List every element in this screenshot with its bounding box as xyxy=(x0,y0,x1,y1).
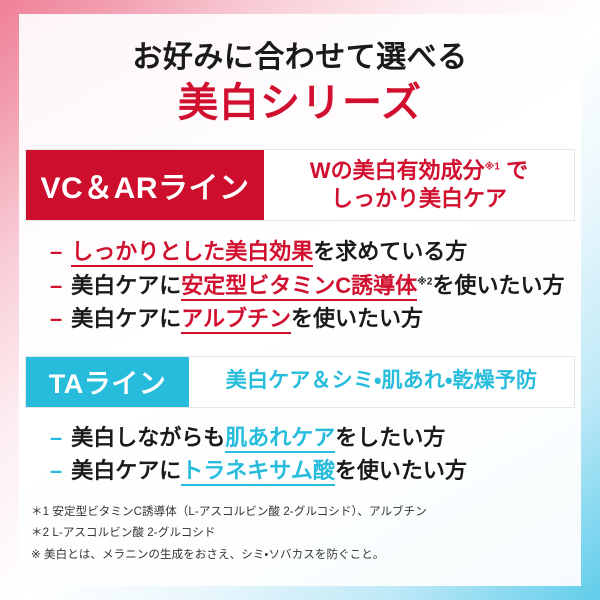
ta-bullet-list: – 美白しながらも肌あれケアをしたい方 – 美白ケアにトラネキサム酸を使いたい方 xyxy=(22,421,578,488)
badge-vc-ar: VC＆ARライン xyxy=(26,150,264,220)
list-item: – 美白ケアにトラネキサム酸を使いたい方 xyxy=(50,454,578,487)
footnote-marker-2: ※2 xyxy=(417,277,432,288)
bullet-highlight: アルブチン xyxy=(181,306,291,334)
ta-heading: 美白ケア＆シミ・肌あれ・乾燥予防 xyxy=(189,357,574,407)
title-subtitle: お好みに合わせて選べる xyxy=(19,40,581,75)
bullet-dash-icon: – xyxy=(50,269,62,302)
promo-poster: お好みに合わせて選べる 美白シリーズ VC＆ARライン Wの美白有効成分※1 で… xyxy=(0,0,600,600)
footnote-item: ＊1 安定型ビタミンC誘導体（L-アスコルビン酸 2-グルコシド）、アルブチン xyxy=(31,502,581,523)
list-item: – しっかりとした美白効果を求めている方 xyxy=(50,235,578,268)
ta-header: TAライン 美白ケア＆シミ・肌あれ・乾燥予防 xyxy=(25,356,575,408)
bullet-text-before: 美白ケアに xyxy=(71,458,181,483)
footnote-list: ＊1 安定型ビタミンC誘導体（L-アスコルビン酸 2-グルコシド）、アルブチン … xyxy=(19,502,581,586)
title-main: 美白シリーズ xyxy=(19,79,581,127)
vc-ar-heading-tail: で xyxy=(500,158,528,183)
bullet-text-before: 美白ケアに xyxy=(71,306,181,331)
vc-ar-heading-text: Wの美白有効成分 xyxy=(310,158,485,183)
ta-heading-line1: 美白ケア＆シミ・肌あれ・乾燥予防 xyxy=(226,368,537,395)
bullet-text-before: 美白しながらも xyxy=(71,425,225,450)
list-item: – 美白しながらも肌あれケアをしたい方 xyxy=(50,421,578,454)
vc-ar-header: VC＆ARライン Wの美白有効成分※1 で しっかり美白ケア xyxy=(25,149,575,221)
bullet-highlight: しっかりとした美白効果 xyxy=(71,239,313,267)
bullet-dash-icon: – xyxy=(50,235,62,268)
section-vc-ar: VC＆ARライン Wの美白有効成分※1 で しっかり美白ケア – しっかりとした… xyxy=(19,149,581,335)
bullet-highlight: 肌あれケア xyxy=(225,425,335,453)
bullet-text: をしたい方 xyxy=(335,425,445,450)
bullet-text: を使いたい方 xyxy=(335,458,467,483)
bullet-highlight: 安定型ビタミンC誘導体 xyxy=(181,273,417,301)
vc-ar-heading-line2: しっかり美白ケア xyxy=(331,185,507,213)
page-title: お好みに合わせて選べる 美白シリーズ xyxy=(19,14,581,127)
badge-ta: TAライン xyxy=(26,357,189,407)
bullet-dash-icon: – xyxy=(50,454,62,487)
content-card: お好みに合わせて選べる 美白シリーズ VC＆ARライン Wの美白有効成分※1 で… xyxy=(19,14,581,586)
bullet-text: を求めている方 xyxy=(313,239,467,264)
bullet-dash-icon: – xyxy=(50,421,62,454)
vc-ar-bullet-list: – しっかりとした美白効果を求めている方 – 美白ケアに安定型ビタミンC誘導体※… xyxy=(22,235,578,335)
vc-ar-heading: Wの美白有効成分※1 で しっかり美白ケア xyxy=(264,150,574,220)
list-item: – 美白ケアに安定型ビタミンC誘導体※2を使いたい方 xyxy=(50,269,578,302)
footnote-marker-1: ※1 xyxy=(485,162,500,173)
bullet-dash-icon: – xyxy=(50,302,62,335)
footnote-item: ＊2 L-アスコルビン酸 2-グルコシド xyxy=(31,523,581,544)
bullet-highlight: トラネキサム酸 xyxy=(181,458,335,486)
vc-ar-heading-line1: Wの美白有効成分※1 で xyxy=(310,157,528,185)
list-item: – 美白ケアにアルブチンを使いたい方 xyxy=(50,302,578,335)
bullet-text-before: 美白ケアに xyxy=(71,273,181,298)
bullet-text: を使いたい方 xyxy=(291,306,423,331)
footnote-item: ※ 美白とは、メラニンの生成をおさえ、シミ・ソバカスを防ぐこと。 xyxy=(31,545,581,566)
bullet-text: を使いたい方 xyxy=(432,273,564,298)
section-ta: TAライン 美白ケア＆シミ・肌あれ・乾燥予防 – 美白しながらも肌あれケアをした… xyxy=(19,356,581,488)
